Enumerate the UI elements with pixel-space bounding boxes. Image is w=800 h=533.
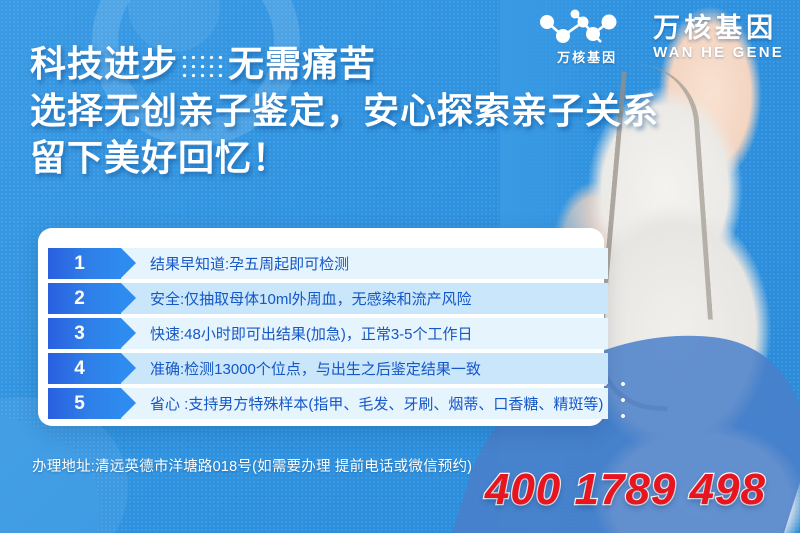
feature-text: 安全:仅抽取母体10ml外周血，无感染和流产风险 <box>121 283 608 314</box>
hotline-phone-number[interactable]: 400 1789 498 <box>485 465 766 515</box>
list-item: 4 准确:检测13000个位点，与出生之后鉴定结果一致 <box>48 353 608 384</box>
list-item: 3 快速:48小时即可出结果(加急)，正常3-5个工作日 <box>48 318 608 349</box>
feature-number-badge: 3 <box>48 318 121 349</box>
feature-text: 结果早知道:孕五周起即可检测 <box>121 248 608 279</box>
headline-block: 科技进步无需痛苦 选择无创亲子鉴定，安心探索亲子关系 留下美好回忆！ <box>30 40 690 181</box>
promo-poster: 万核基因 万核基因 WAN HE GENE 科技进步无需痛苦 选择无创亲子鉴定，… <box>0 0 800 533</box>
feature-text: 省心 :支持男方特殊样本(指甲、毛发、牙刷、烟蒂、口香糖、精斑等) <box>121 388 608 419</box>
headline-line-1-part-a: 科技进步 <box>30 43 178 84</box>
list-item: 2 安全:仅抽取母体10ml外周血，无感染和流产风险 <box>48 283 608 314</box>
headline-line-1-part-b: 无需痛苦 <box>228 43 376 84</box>
headline-line-2: 选择无创亲子鉴定，安心探索亲子关系 <box>30 87 690 134</box>
feature-text: 快速:48小时即可出结果(加急)，正常3-5个工作日 <box>121 318 608 349</box>
list-item: 1 结果早知道:孕五周起即可检测 <box>48 248 608 279</box>
headline-line-3: 留下美好回忆！ <box>30 134 690 181</box>
feature-number-badge: 4 <box>48 353 121 384</box>
feature-number-badge: 5 <box>48 388 121 419</box>
list-item: 5 省心 :支持男方特殊样本(指甲、毛发、牙刷、烟蒂、口香糖、精斑等) <box>48 388 608 419</box>
feature-number-badge: 1 <box>48 248 121 279</box>
headline-line-1: 科技进步无需痛苦 <box>30 40 690 87</box>
office-address: 办理地址:清远英德市洋塘路018号(如需要办理 提前电话或微信预约) <box>32 455 472 476</box>
dots-decoration-icon <box>180 53 226 79</box>
feature-list: 1 结果早知道:孕五周起即可检测 2 安全:仅抽取母体10ml外周血，无感染和流… <box>48 248 608 419</box>
feature-number-badge: 2 <box>48 283 121 314</box>
feature-text: 准确:检测13000个位点，与出生之后鉴定结果一致 <box>121 353 608 384</box>
